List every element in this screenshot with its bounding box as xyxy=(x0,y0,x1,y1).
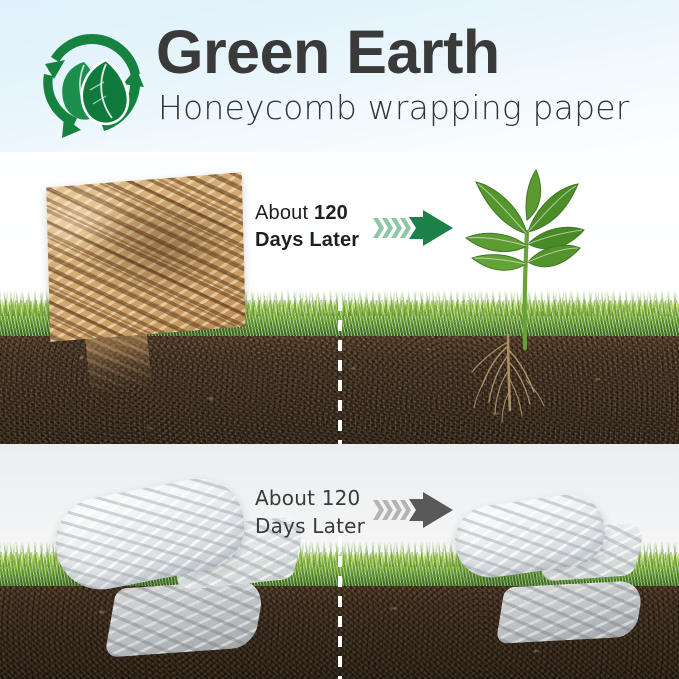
scene-plastic: About 120 Days Later xyxy=(0,444,679,679)
product-infographic: Green Earth Honeycomb wrapping paper xyxy=(0,0,679,679)
recycle-leaves-icon xyxy=(32,26,152,144)
page-subtitle: Honeycomb wrapping paper xyxy=(158,90,630,126)
cta-plastic: About 120 Days Later xyxy=(255,486,465,544)
cta-prefix: About xyxy=(255,202,314,224)
dashed-vertical-divider-bottom xyxy=(338,536,342,679)
scene-biodegradable: About 120 Days Later xyxy=(0,152,679,444)
cta-biodegradable: About 120 Days Later xyxy=(255,202,460,260)
honeycomb-paper-buried-part xyxy=(85,331,153,399)
plastic-bubble-wrap-buried-left xyxy=(104,578,266,657)
brand-header: Green Earth Honeycomb wrapping paper xyxy=(0,0,679,152)
chevrons-right-arrow-icon xyxy=(373,490,455,530)
cta-days-value: 120 xyxy=(314,202,348,224)
plastic-bubble-wrap-buried-right xyxy=(496,580,645,644)
chevrons-right-arrow-icon xyxy=(373,208,455,248)
page-title: Green Earth xyxy=(156,22,500,83)
dashed-vertical-divider-top xyxy=(338,300,342,444)
honeycomb-kraft-paper-sheet xyxy=(46,172,245,342)
green-seedling-plant xyxy=(432,160,622,350)
plant-roots xyxy=(462,334,602,430)
